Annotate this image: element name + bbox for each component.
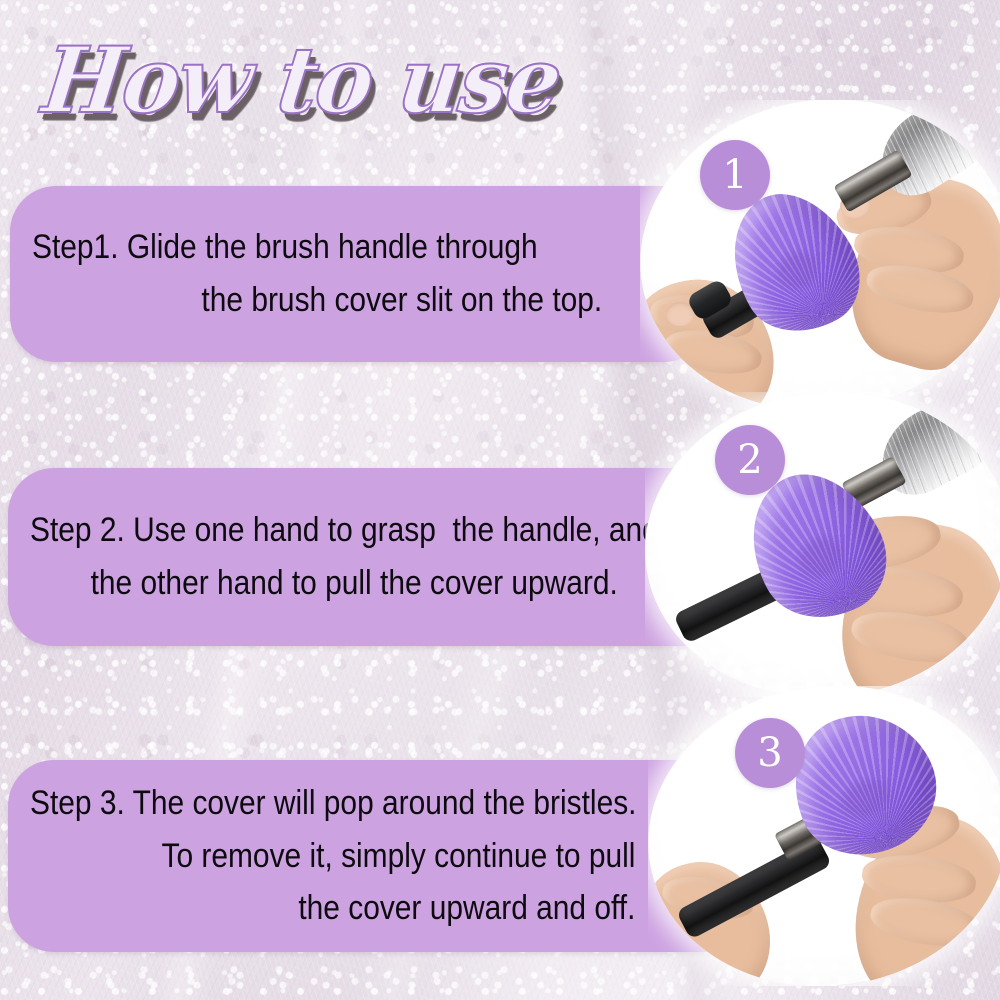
step-1-photo-content	[640, 100, 1000, 410]
step-1-number-badge: 1	[700, 140, 770, 210]
page-title: How to use	[37, 27, 565, 134]
step-3-photo-oval	[648, 686, 1000, 986]
step-1-photo-oval	[640, 100, 1000, 410]
step-3-photo-content	[648, 686, 1000, 986]
step-2-photo-content	[645, 392, 1000, 697]
infographic-canvas: How to use Step1. Glide the brush handle…	[0, 0, 1000, 1000]
step-2-line-1: Step 2. Use one hand to grasp the handle…	[30, 504, 621, 557]
step-2-line-2: the other hand to pull the cover upward.	[30, 557, 621, 610]
step-3-text: Step 3. The cover will pop around the br…	[30, 760, 639, 952]
step-3-photo	[648, 686, 1000, 986]
step-3-line-3: the cover upward and off.	[30, 882, 639, 935]
step-1-photo	[640, 100, 1000, 410]
step-1-line-1: Step1. Glide the brush handle through	[32, 221, 606, 274]
step-2-text: Step 2. Use one hand to grasp the handle…	[30, 468, 621, 646]
step-1-banner: Step1. Glide the brush handle through th…	[10, 186, 710, 362]
step-1-text: Step1. Glide the brush handle through th…	[32, 186, 606, 362]
step-3-banner: Step 3. The cover will pop around the br…	[8, 760, 748, 952]
step-1-line-2: the brush cover slit on the top.	[32, 274, 606, 327]
step-2-number-badge: 2	[715, 425, 785, 495]
step-2-photo	[645, 392, 1000, 697]
step-3-line-2: To remove it, simply continue to pull	[30, 830, 639, 883]
step-2-banner: Step 2. Use one hand to grasp the handle…	[8, 468, 728, 646]
step-2-photo-oval	[645, 392, 1000, 697]
step-3-line-1: Step 3. The cover will pop around the br…	[30, 777, 639, 830]
step-3-number-badge: 3	[735, 718, 805, 788]
